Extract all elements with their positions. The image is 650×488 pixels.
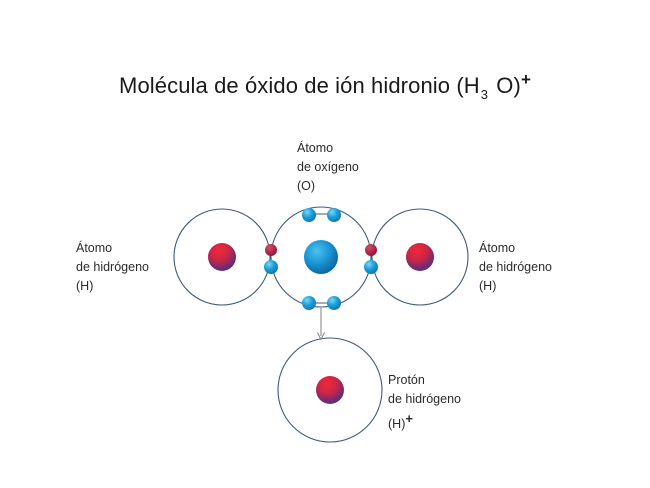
label-oxygen-line1: Átomo: [297, 139, 359, 158]
nucleus-hydrogen-left: [208, 243, 236, 271]
label-hydrogen-left-line1: Átomo: [76, 239, 149, 258]
nucleus-hydrogen-right: [406, 243, 434, 271]
bond-electron-right: [364, 260, 378, 274]
label-hydrogen-right-line2: de hidrógeno: [479, 258, 552, 277]
label-oxygen-atom: Átomo de oxígeno (O): [297, 139, 359, 196]
label-hydrogen-left-line2: de hidrógeno: [76, 258, 149, 277]
electron-oxygen-top-left: [302, 208, 316, 222]
nucleus-proton: [316, 376, 344, 404]
electron-oxygen-bottom-right: [327, 296, 341, 310]
nucleus-oxygen: [304, 240, 338, 274]
label-proton-line2: de hidrógeno: [388, 390, 461, 409]
label-proton-symbol: (H): [388, 417, 405, 431]
electron-oxygen-top-right: [327, 208, 341, 222]
label-proton-charge: +: [405, 411, 413, 426]
label-oxygen-line3: (O): [297, 177, 359, 196]
bond-proton-right: [365, 244, 377, 256]
label-hydrogen-right: Átomo de hidrógeno (H): [479, 239, 552, 296]
electron-oxygen-bottom-left: [302, 296, 316, 310]
label-proton-line3: (H)+: [388, 409, 461, 434]
bond-electron-left: [264, 260, 278, 274]
label-hydrogen-right-line1: Átomo: [479, 239, 552, 258]
bond-proton-left: [265, 244, 277, 256]
label-proton: Protón de hidrógeno (H)+: [388, 371, 461, 434]
label-proton-line1: Protón: [388, 371, 461, 390]
label-oxygen-line2: de oxígeno: [297, 158, 359, 177]
label-hydrogen-left-line3: (H): [76, 277, 149, 296]
label-hydrogen-right-line3: (H): [479, 277, 552, 296]
label-hydrogen-left: Átomo de hidrógeno (H): [76, 239, 149, 296]
slide-canvas: Molécula de óxido de ión hidronio (H3 O)…: [0, 0, 650, 488]
